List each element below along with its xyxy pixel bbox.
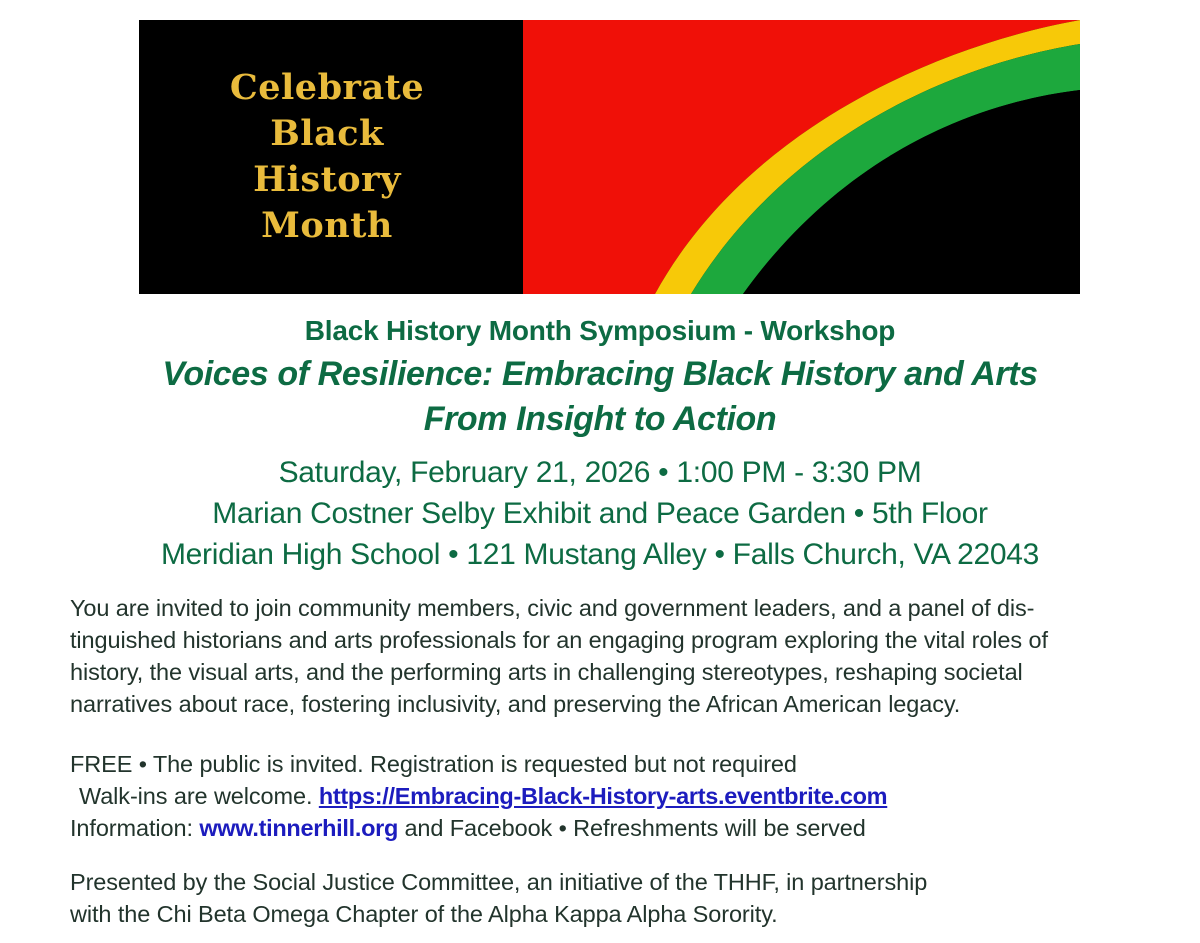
information-label: Information:: [70, 815, 199, 841]
tinnerhill-website-link[interactable]: www.tinnerhill.org: [199, 815, 398, 841]
headline-block: Black History Month Symposium - Workshop…: [0, 310, 1200, 442]
registration-block: FREE • The public is invited. Registrati…: [70, 748, 1170, 844]
flag-swoosh-icon: [515, 20, 1080, 294]
banner-title-stack: Celebrate Black History Month: [139, 20, 515, 294]
presenter-credits-line-1: Presented by the Social Justice Committe…: [70, 866, 1170, 898]
presenter-credits-line-2: with the Chi Beta Omega Chapter of the A…: [70, 898, 1170, 930]
banner-title-line-4: Month: [261, 204, 393, 248]
description-line-3: history, the visual arts, and the perfor…: [70, 656, 1170, 688]
description-line-1: You are invited to join community member…: [70, 592, 1170, 624]
event-description-paragraph: You are invited to join community member…: [70, 592, 1170, 720]
walkins-note: Walk-ins are welcome.: [79, 783, 319, 809]
event-datetime: Saturday, February 21, 2026 • 1:00 PM - …: [0, 452, 1200, 493]
event-logistics-block: Saturday, February 21, 2026 • 1:00 PM - …: [0, 452, 1200, 575]
information-line: Information: www.tinnerhill.org and Face…: [70, 812, 1170, 844]
event-theme-line-2: From Insight to Action: [0, 397, 1200, 442]
description-line-2: tinguished historians and arts professio…: [70, 624, 1170, 656]
event-theme-line-1: Voices of Resilience: Embracing Black Hi…: [0, 352, 1200, 397]
admission-note: FREE • The public is invited. Registrati…: [70, 748, 1170, 780]
description-line-4: narratives about race, fostering inclusi…: [70, 688, 1170, 720]
banner-title-line-1: Celebrate: [230, 66, 424, 110]
event-type-heading: Black History Month Symposium - Workshop: [0, 310, 1200, 352]
pan-african-flag-graphic: [515, 20, 1080, 294]
banner-title-line-2: Black: [270, 112, 384, 156]
eventbrite-registration-link[interactable]: https://Embracing-Black-History-arts.eve…: [319, 783, 887, 809]
presenter-credits-block: Presented by the Social Justice Committe…: [70, 866, 1170, 930]
celebrate-black-history-month-banner: Celebrate Black History Month: [139, 20, 1080, 294]
banner-title-line-3: History: [253, 158, 401, 202]
information-suffix: and Facebook • Refreshments will be serv…: [398, 815, 866, 841]
walkins-and-link-line: Walk-ins are welcome. https://Embracing-…: [70, 780, 1170, 812]
event-venue-room: Marian Costner Selby Exhibit and Peace G…: [0, 493, 1200, 534]
event-address: Meridian High School • 121 Mustang Alley…: [0, 534, 1200, 575]
